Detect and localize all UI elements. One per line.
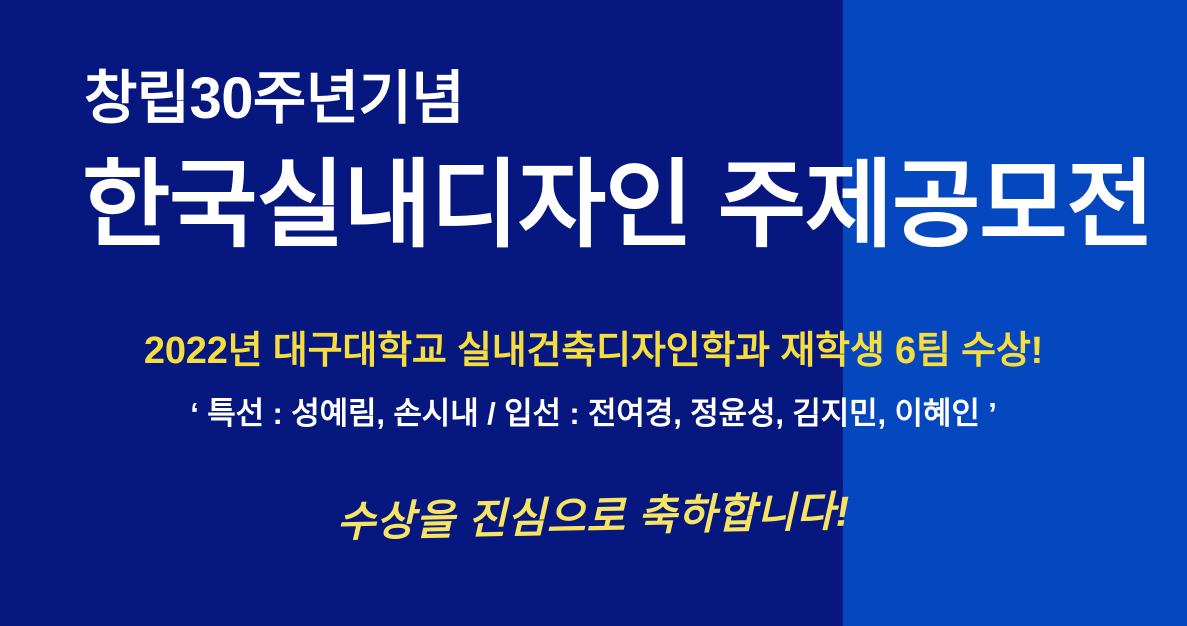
headline-title: 한국실내디자인 주제공모전 bbox=[82, 158, 1154, 254]
award-summary-text: 2022년 대구대학교 실내건축디자인학과 재학생 6팀 수상! bbox=[0, 332, 1187, 370]
congratulation-banner: 창립30주년기념 한국실내디자인 주제공모전 2022년 대구대학교 실내건축디… bbox=[0, 0, 1187, 626]
congratulation-message: 수상을 진심으로 축하합니다! bbox=[0, 484, 1187, 551]
winner-names-text: ‘ 특선 : 성예림, 손시내 / 입선 : 전여경, 정윤성, 김지민, 이혜… bbox=[0, 398, 1187, 429]
kicker-text: 창립30주년기념 bbox=[84, 70, 464, 128]
banner-content: 창립30주년기념 한국실내디자인 주제공모전 2022년 대구대학교 실내건축디… bbox=[0, 0, 1187, 626]
